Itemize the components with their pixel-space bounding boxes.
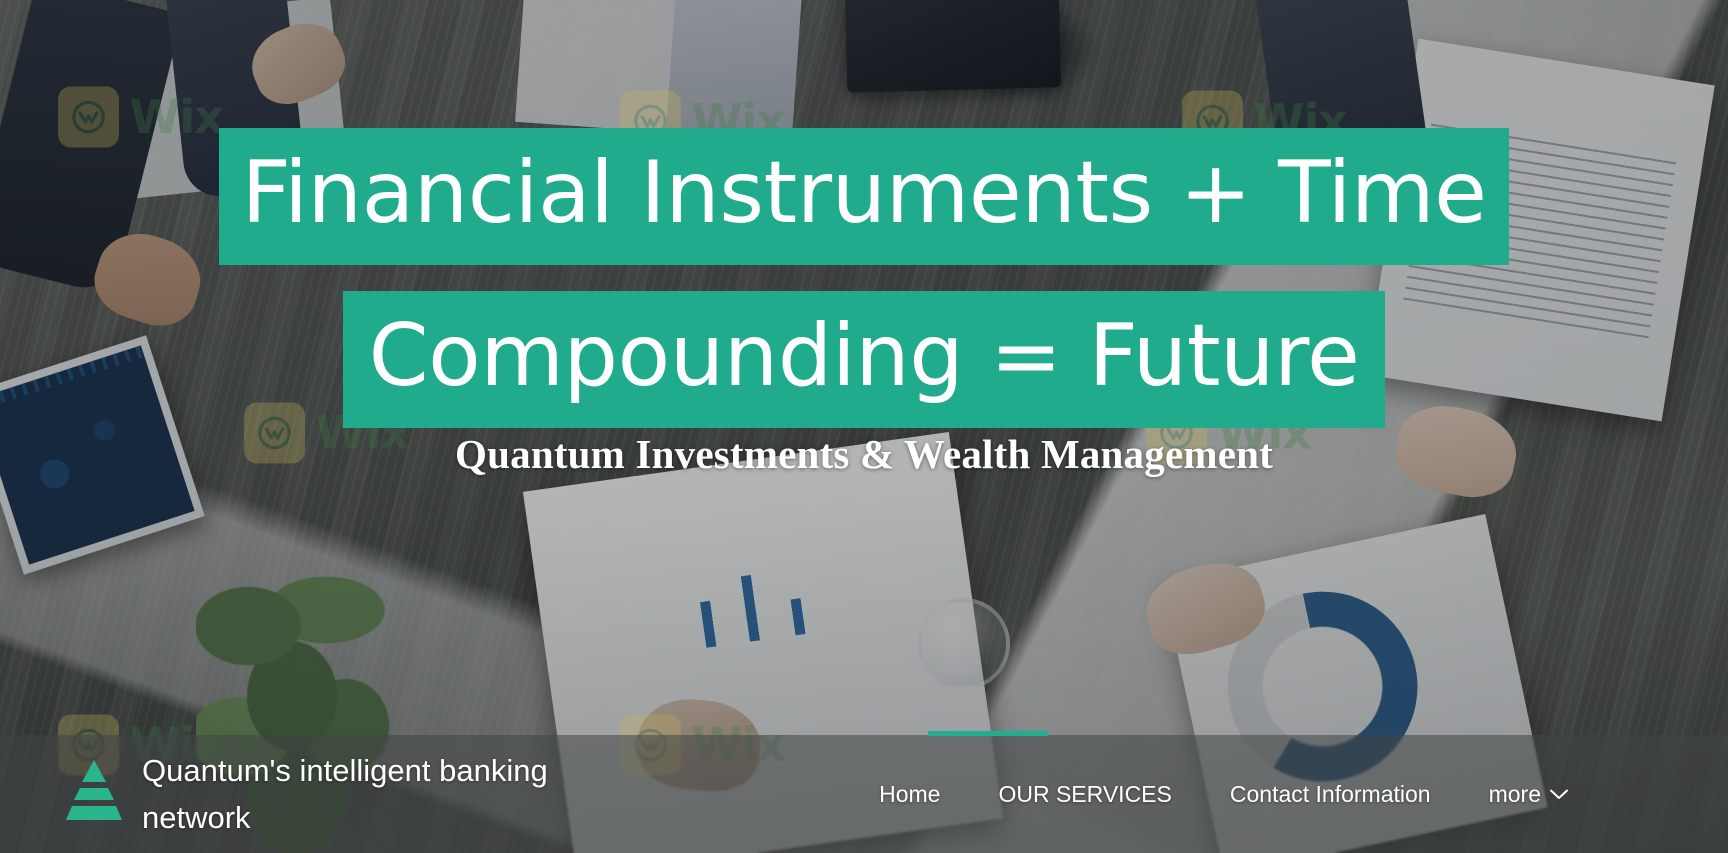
nav-item-our-services[interactable]: OUR SERVICES [998,781,1171,808]
nav-item-more-label: more [1489,781,1541,808]
triangle-stack-logo-icon [62,758,126,830]
nav-item-more[interactable]: more [1489,781,1568,808]
chevron-down-icon [1550,789,1568,800]
headline-line-1: Financial Instruments + Time [219,128,1508,265]
headline-line-2: Compounding = Future [343,291,1386,428]
hero-subtitle: Quantum Investments & Wealth Management [0,430,1728,478]
hero-section: Wix Wix Wix [0,0,1728,853]
active-nav-indicator [928,731,1048,736]
nav-item-home[interactable]: Home [879,781,940,808]
hero-headline: Financial Instruments + Time Compounding… [0,128,1728,428]
nav-item-contact-information[interactable]: Contact Information [1230,781,1431,808]
site-title: Quantum's intelligent banking network [142,747,612,841]
site-navbar: Quantum's intelligent banking network Ho… [0,735,1728,853]
brand[interactable]: Quantum's intelligent banking network [62,747,702,841]
nav-menu: Home OUR SERVICES Contact Information mo… [879,781,1568,808]
